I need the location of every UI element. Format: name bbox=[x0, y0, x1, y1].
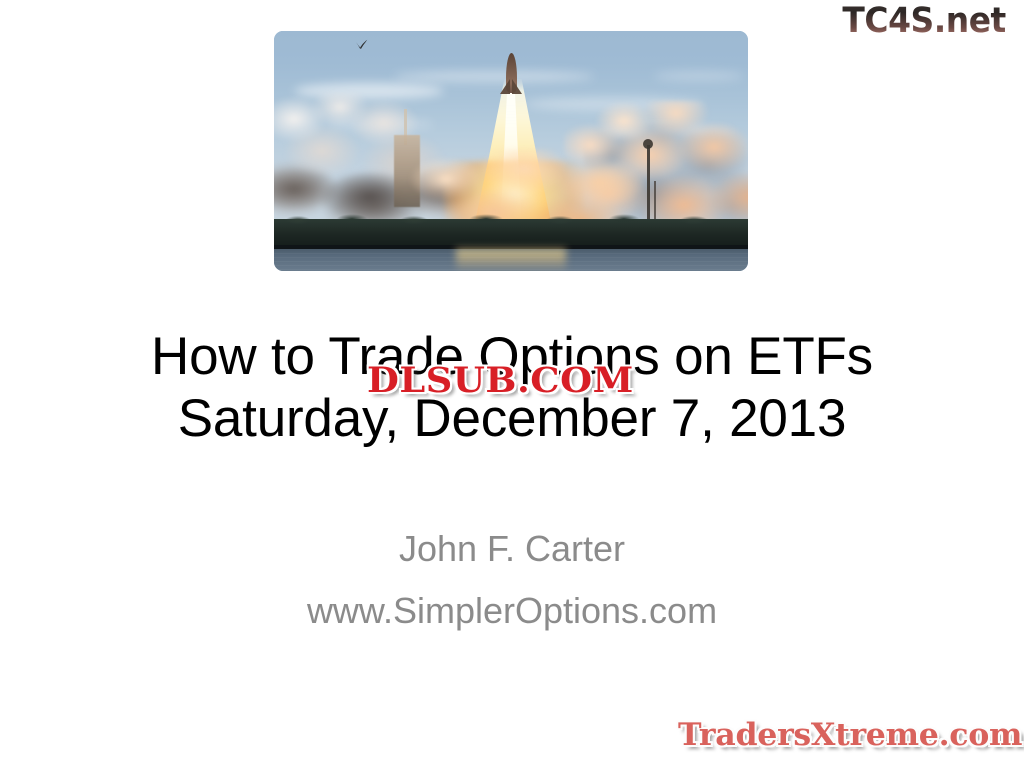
photo-scene bbox=[274, 31, 748, 271]
subtitle-author: John F. Carter bbox=[0, 518, 1024, 580]
shuttle-wing-left bbox=[500, 79, 510, 94]
tc4s-logo-watermark: TC4S.net bbox=[843, 2, 1006, 40]
cloud-wisp bbox=[654, 71, 744, 81]
space-shuttle bbox=[500, 53, 522, 97]
slide-subtitle: John F. Carter www.SimplerOptions.com bbox=[0, 518, 1024, 642]
tradersxtreme-watermark: TradersXtreme.com bbox=[678, 716, 1022, 754]
shuttle-wing-right bbox=[512, 79, 522, 94]
cloud-wisp bbox=[394, 71, 594, 82]
treeline bbox=[274, 219, 748, 247]
presentation-slide: TC4S.net bbox=[0, 0, 1024, 768]
rocket-launch-photo bbox=[274, 31, 748, 271]
bird-icon bbox=[354, 39, 368, 49]
dlsub-watermark: DLSUB.COM bbox=[367, 361, 634, 401]
subtitle-website: www.SimplerOptions.com bbox=[0, 580, 1024, 642]
water-ripples bbox=[274, 253, 748, 271]
